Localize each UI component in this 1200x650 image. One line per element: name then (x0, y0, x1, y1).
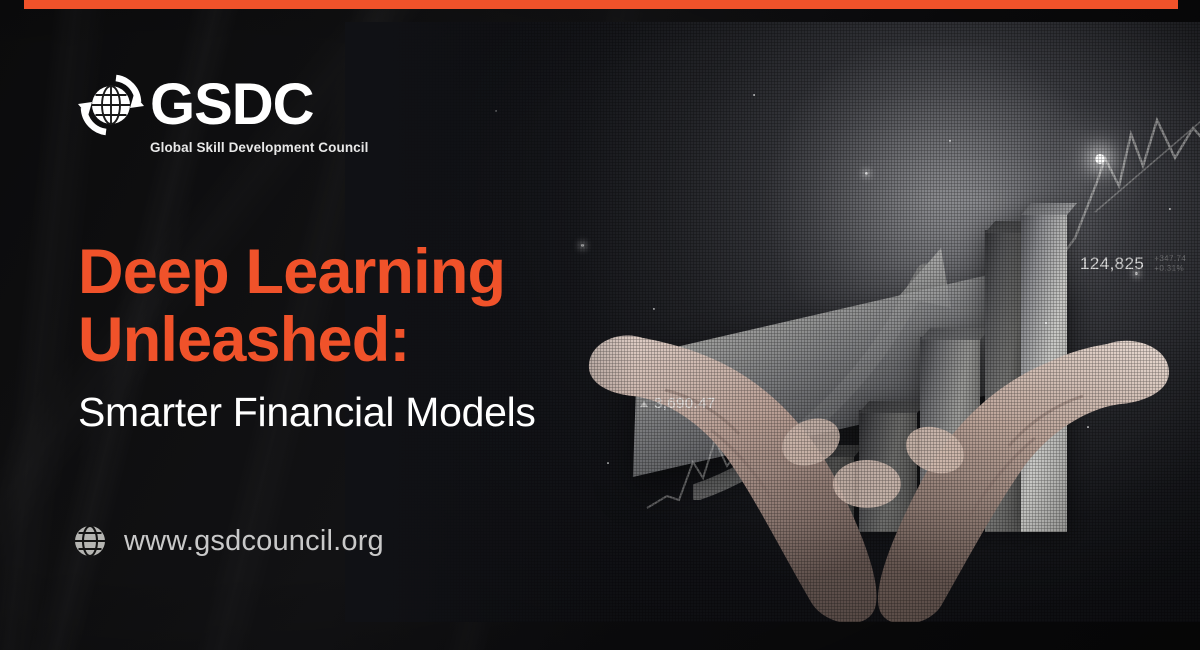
headline-line-1: Deep Learning (78, 238, 678, 306)
headline-line-2: Unleashed: (78, 306, 678, 374)
promo-banner: 3,690.47 124,825 +347.74 +0.31% (0, 0, 1200, 650)
website-url: www.gsdcouncil.org (124, 525, 384, 558)
globe-icon (72, 523, 108, 559)
website-link[interactable]: www.gsdcouncil.org (72, 523, 384, 559)
headline-subtitle: Smarter Financial Models (78, 388, 678, 437)
top-accent-bar (24, 0, 1178, 9)
globe-arrows-icon (78, 72, 144, 138)
brand-logo[interactable]: GSDC Global Skill Development Council (78, 72, 369, 155)
logo-row: GSDC (78, 72, 314, 138)
logo-tagline: Global Skill Development Council (150, 140, 369, 155)
logo-wordmark: GSDC (150, 77, 314, 132)
headline-block: Deep Learning Unleashed: Smarter Financi… (78, 238, 678, 437)
